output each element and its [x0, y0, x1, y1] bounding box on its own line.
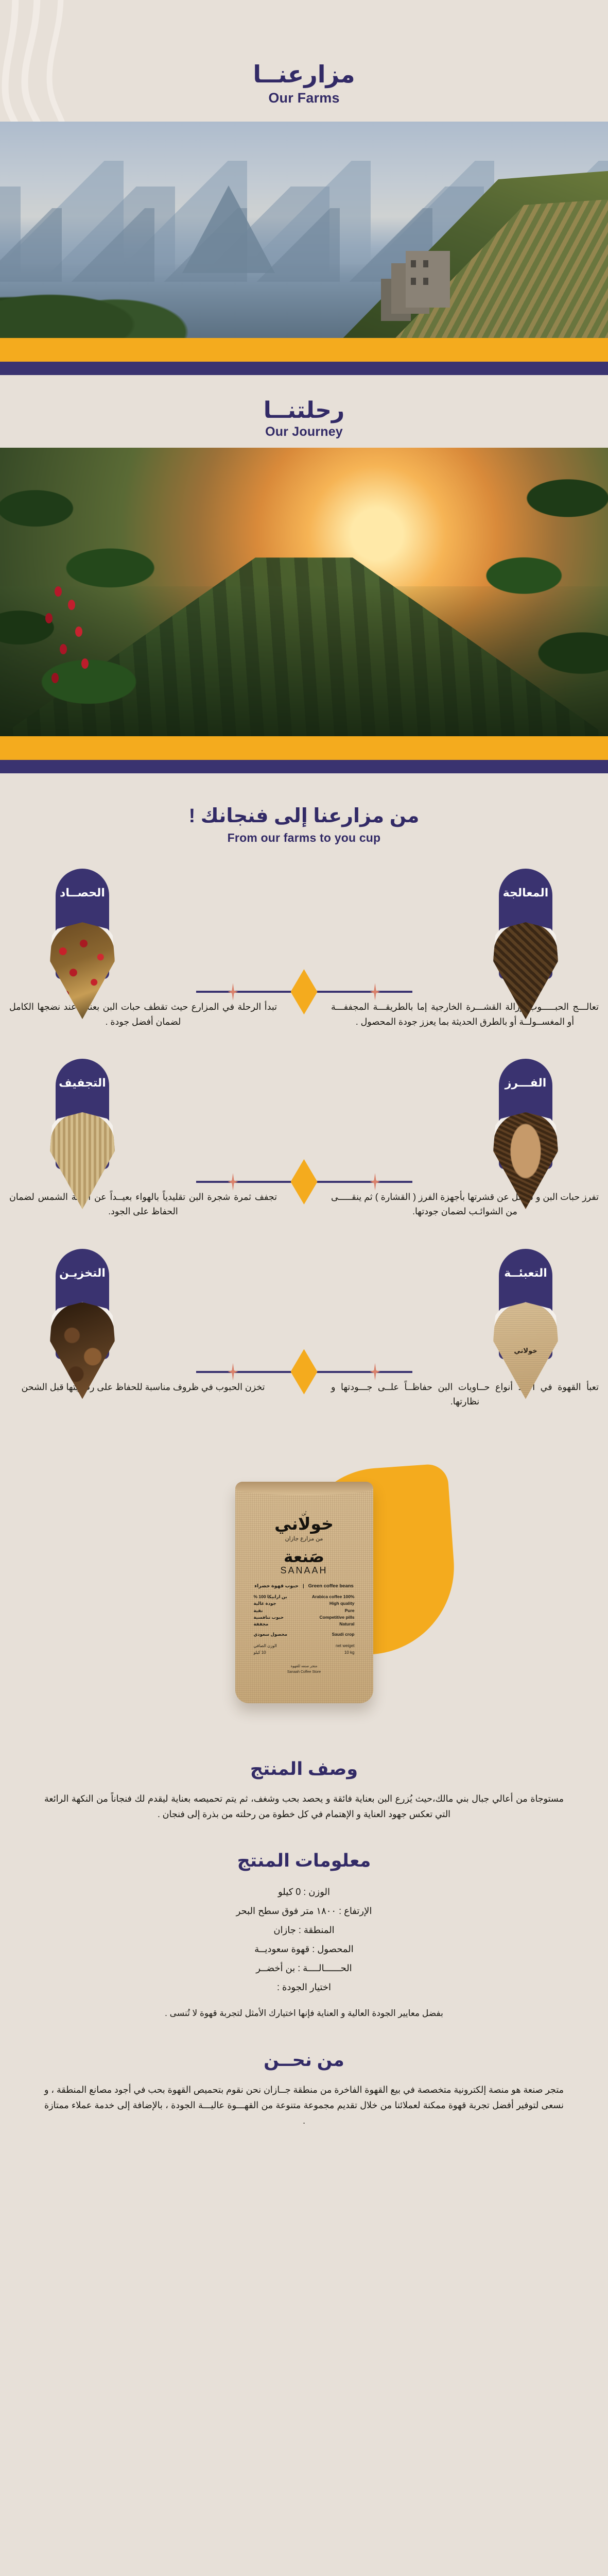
sack-store-en: Sanaah Coffee Store	[235, 1670, 373, 1675]
product-description-section: وصف المنتج مستوجاة من أعالي جبال بني مال…	[0, 1759, 608, 1822]
product-info-title: معلومات المنتج	[44, 1851, 564, 1871]
step-connector	[196, 990, 412, 993]
step-card-sorting[interactable]: الفـــرز	[475, 1059, 576, 1169]
sack-weight-value-ar: 10 كيلو	[254, 1650, 266, 1656]
sack-spec-row: Pure نقية	[254, 1607, 355, 1614]
product-info-item: المحصول : قهوة سعوديــة	[44, 1940, 564, 1959]
our-farms-heading: مزارعنــا Our Farms	[0, 0, 608, 106]
step-desc: تبدأ الرحلة في المزارع حيث تقطف حبات الب…	[9, 999, 277, 1029]
about-us-section: من نحــن متجر صنعة هو منصة إلكترونية متخ…	[0, 2050, 608, 2128]
step-label: التجفيف	[59, 1076, 106, 1090]
process-steps: المعالجة الحصــاد تعالـــج الحبـــــوب ل…	[0, 851, 608, 1414]
sack-brand: خولاني	[235, 1515, 373, 1532]
sack-spec-row: Natural مجففة	[254, 1621, 355, 1628]
sack-origin: من مزارع جازان	[235, 1535, 373, 1542]
infographic-page: مزارعنــا Our Farms رحلتنــا Our Journey	[0, 0, 608, 2576]
sack-product-name-en: SANAAH	[235, 1565, 373, 1576]
sack-spec-en: High quality	[329, 1600, 355, 1607]
sack-spec-ar: بن ارابيكا 100 %	[254, 1594, 287, 1600]
step-card-packaging[interactable]: التعبئــة	[475, 1249, 576, 1359]
product-info-note: بفضل معايير الجودة العالية و العناية فإن…	[44, 2006, 564, 2021]
steps-title-en: From our farms to you cup	[0, 831, 608, 845]
our-journey-image	[0, 448, 608, 736]
bottom-spacer	[0, 2128, 608, 2159]
our-journey-heading: رحلتنــا Our Journey	[0, 375, 608, 448]
sack-spec-en: Arabica coffee 100%	[312, 1594, 355, 1600]
product-info-item: الإرتفاع : ١٨٠٠ متر فوق سطح البحر	[44, 1902, 564, 1921]
step-row: المعالجة الحصــاد	[0, 869, 608, 979]
purple-bar-2	[0, 760, 608, 773]
product-info-list: الوزن : 0 كيلو الإرتفاع : ١٨٠٠ متر فوق س…	[44, 1883, 564, 1996]
step-label: المعالجة	[502, 886, 549, 900]
step-desc: تفرز حبات البن و تفصل عن قشرتها بأجهزة ا…	[331, 1190, 599, 1219]
step-connector	[196, 1370, 412, 1374]
product-description-title: وصف المنتج	[44, 1759, 564, 1780]
step-desc: تعالـــج الحبـــــوب لإزالة القشـــرة ال…	[331, 999, 599, 1029]
step-desc: تعبأ القهوة في أجود أنواع حــاويات البن …	[331, 1380, 599, 1409]
steps-title-ar: من مزارعنا إلى فنجانك !	[0, 805, 608, 828]
sack-spec-row: Competitive pills حبوب تنافسية	[254, 1614, 355, 1621]
sack-weight-label-en: net weiget	[336, 1643, 354, 1649]
step-row: التعبئــة التخزيـن	[0, 1249, 608, 1359]
step-card-processing[interactable]: المعالجة	[475, 869, 576, 979]
step-desc: تجفف ثمرة شجرة البن تقليدياً بالهواء بعي…	[9, 1190, 277, 1219]
sack-product-name-ar: صَنعة	[235, 1549, 373, 1565]
sack-weight-value-en: 10 kg	[344, 1650, 355, 1656]
product-info-item: الحــــــالــــة : بن أخضــر	[44, 1959, 564, 1978]
coffee-sack-image: بُن خولاني من مزارع جازان صَنعة SANAAH G…	[235, 1482, 373, 1703]
our-farms-image	[0, 122, 608, 338]
sack-weight-label-ar: الوزن الصافي	[254, 1643, 277, 1649]
sack-title-en: Green coffee beans	[308, 1583, 354, 1589]
product-image-block: بُن خولاني من مزارع جازان صَنعة SANAAH G…	[0, 1442, 608, 1730]
step-desc: تخزن الحبوب في ظروف مناسبة للحفاظ على رط…	[9, 1380, 277, 1409]
sack-store-block: متجر صنعه للقهوة Sanaah Coffee Store	[235, 1664, 373, 1675]
sack-weight-label-row: net weiget الوزن الصافي	[254, 1643, 355, 1649]
product-info-item: الوزن : 0 كيلو	[44, 1883, 564, 1902]
scallop-strip-2	[0, 736, 608, 760]
sack-title-ar: حبوب قهوة خضراء	[254, 1583, 299, 1589]
about-us-body: متجر صنعة هو منصة إلكترونية متخصصة في بي…	[44, 2082, 564, 2128]
scallop-strip-1	[0, 338, 608, 362]
sack-title-separator: |	[303, 1583, 304, 1589]
sack-crop-en: Saudi crop	[332, 1631, 355, 1638]
our-journey-title-en: Our Journey	[0, 425, 608, 439]
sack-spec-ar: حبوب تنافسية	[254, 1614, 284, 1621]
sack-weight-value-row: 10 kg 10 كيلو	[254, 1650, 355, 1656]
step-label: التعبئــة	[502, 1266, 549, 1280]
sack-spec-en: Natural	[339, 1621, 354, 1628]
steps-heading: من مزارعنا إلى فنجانك ! From our farms t…	[0, 773, 608, 851]
our-farms-title-en: Our Farms	[0, 90, 608, 106]
step-connector	[196, 1180, 412, 1183]
our-farms-title-ar: مزارعنــا	[0, 61, 608, 88]
product-info-section: معلومات المنتج الوزن : 0 كيلو الإرتفاع :…	[0, 1851, 608, 2021]
sack-spec-list: Arabica coffee 100% بن ارابيكا 100 % Hig…	[254, 1594, 355, 1638]
sack-spec-row: Arabica coffee 100% بن ارابيكا 100 %	[254, 1594, 355, 1600]
product-info-item: المنطقة : جازان	[44, 1921, 564, 1940]
step-label: الحصــاد	[59, 886, 106, 900]
product-description-body: مستوجاة من أعالي جبال بني مالك،حيث يُزرع…	[44, 1791, 564, 1822]
sack-store-ar: متجر صنعه للقهوة	[235, 1664, 373, 1670]
about-us-title: من نحــن	[44, 2050, 564, 2071]
our-journey-title-ar: رحلتنــا	[0, 398, 608, 424]
step-card-storage[interactable]: التخزيـن	[32, 1249, 133, 1359]
sack-spec-ar: نقية	[254, 1607, 263, 1614]
step-card-drying[interactable]: التجفيف	[32, 1059, 133, 1169]
sack-weight-block: net weiget الوزن الصافي 10 kg 10 كيلو	[254, 1643, 355, 1656]
step-row: الفـــرز التجفيف	[0, 1059, 608, 1169]
step-label: التخزيـن	[59, 1266, 106, 1280]
sack-spec-en: Competitive pills	[319, 1614, 354, 1621]
sack-crop-row: Saudi crop محصول سعودي	[254, 1631, 355, 1638]
sack-title-row: Green coffee beans | حبوب قهوة خضراء	[235, 1583, 373, 1589]
sack-spec-en: Pure	[345, 1607, 355, 1614]
sack-spec-ar: جودة عالية	[254, 1600, 276, 1607]
product-info-item: اختيار الجودة :	[44, 1978, 564, 1997]
step-label: الفـــرز	[502, 1076, 549, 1090]
sack-spec-row: High quality جودة عالية	[254, 1600, 355, 1607]
sack-spec-ar: مجففة	[254, 1621, 269, 1628]
purple-bar-1	[0, 362, 608, 375]
sack-crop-ar: محصول سعودي	[254, 1631, 287, 1638]
step-card-harvest[interactable]: الحصــاد	[32, 869, 133, 979]
